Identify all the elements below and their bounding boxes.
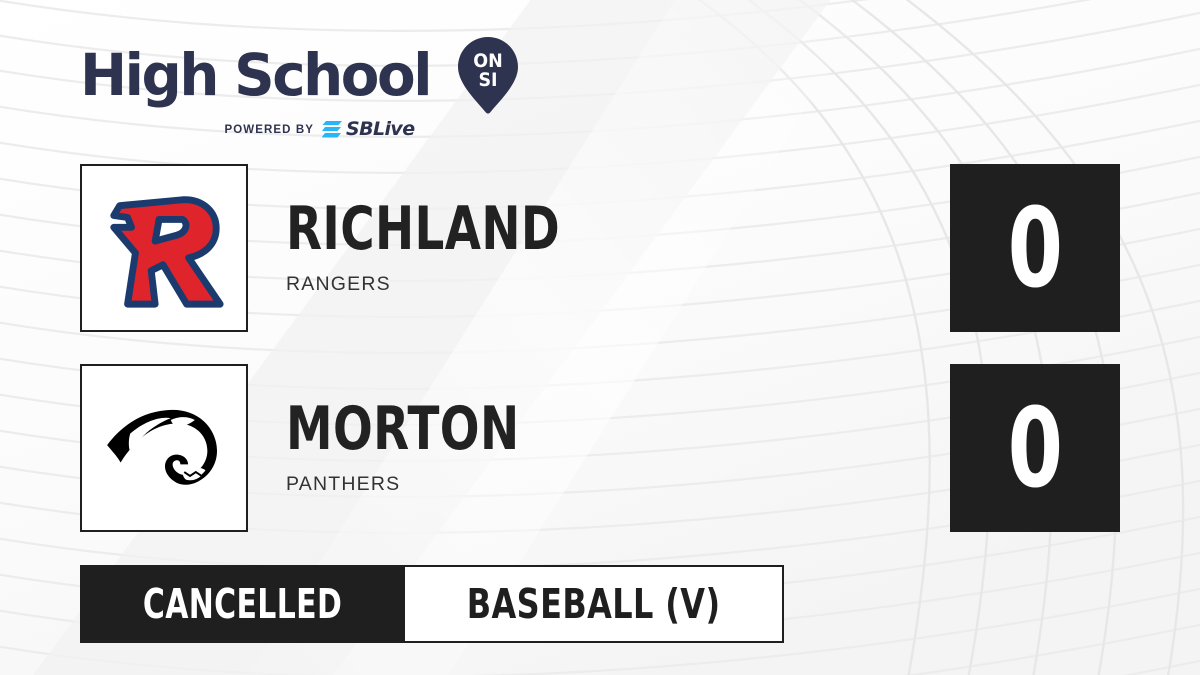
richland-r-logo-icon xyxy=(100,184,228,312)
powered-by-row: POWERED BY SBLive xyxy=(80,120,519,139)
sblive-wordmark: SBLive xyxy=(346,120,414,139)
team-logo-box-morton xyxy=(80,364,248,532)
site-wordmark: High School xyxy=(80,46,430,104)
score-box-morton: 0 xyxy=(950,364,1120,532)
team-mascot-morton: PANTHERS xyxy=(286,473,585,496)
score-value-richland: 0 xyxy=(1007,193,1062,303)
wordmark-row: High School ON SI xyxy=(80,36,519,114)
sblive-logo: SBLive xyxy=(322,120,414,139)
sport-badge: BASEBALL (V) xyxy=(405,565,784,643)
sblive-s-mark-icon xyxy=(322,120,343,139)
team-name-richland: RICHLAND xyxy=(286,200,560,259)
team-text-morton: MORTON PANTHERS xyxy=(286,400,585,496)
team-logo-box-richland xyxy=(80,164,248,332)
team-row-home: RICHLAND RANGERS xyxy=(80,164,637,332)
team-row-away: MORTON PANTHERS xyxy=(80,364,585,532)
powered-by-label: POWERED BY xyxy=(224,124,314,136)
team-mascot-richland: RANGERS xyxy=(286,273,637,296)
team-text-richland: RICHLAND RANGERS xyxy=(286,200,637,296)
morton-panther-logo-icon xyxy=(101,395,227,501)
status-badge: CANCELLED xyxy=(80,565,405,643)
sport-badge-label: BASEBALL (V) xyxy=(467,584,721,625)
site-logo-header: High School ON SI POWERED BY SBLive xyxy=(80,36,519,139)
game-status-bar: CANCELLED BASEBALL (V) xyxy=(80,565,784,643)
team-name-morton: MORTON xyxy=(286,400,520,459)
pin-text-si: SI xyxy=(478,69,497,91)
score-box-richland: 0 xyxy=(950,164,1120,332)
score-value-morton: 0 xyxy=(1007,393,1062,503)
status-badge-label: CANCELLED xyxy=(143,584,342,625)
on-si-pin-icon: ON SI xyxy=(457,36,519,114)
